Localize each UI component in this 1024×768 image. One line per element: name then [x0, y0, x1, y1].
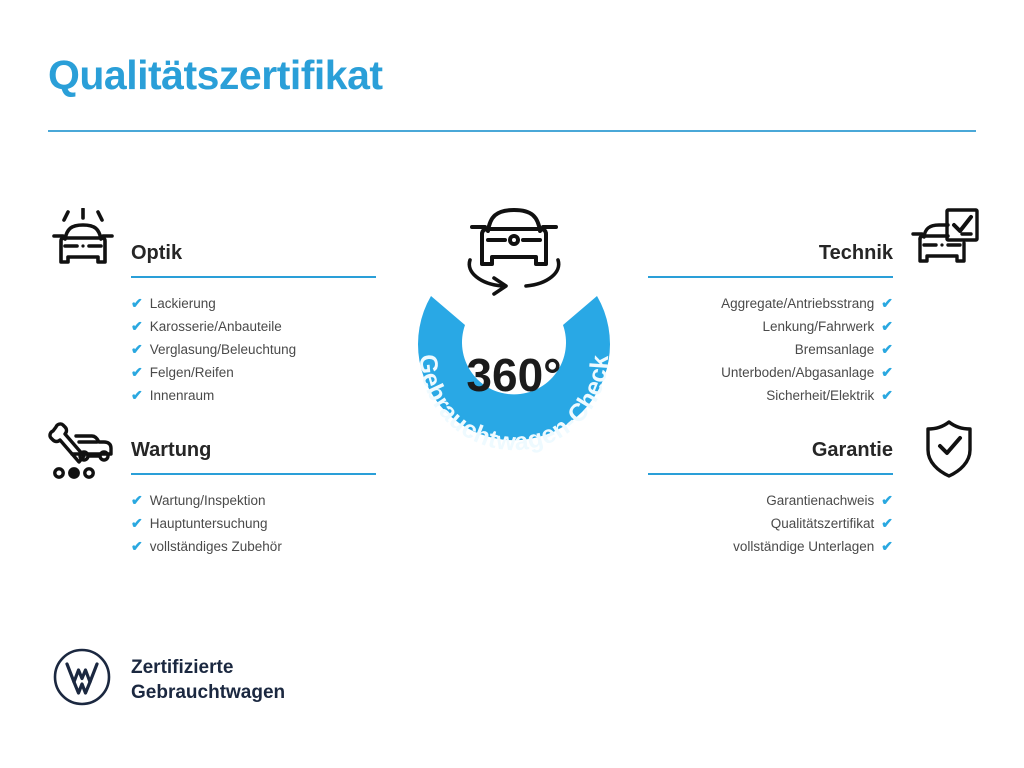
section-optik: Optik ✔ Lackierung ✔ Karosserie/Anbautei… [131, 240, 376, 407]
list-item: ✔ vollständiges Zubehör [131, 535, 376, 558]
list-item-label: Felgen/Reifen [150, 361, 234, 384]
list-item: ✔ Karosserie/Anbauteile [131, 315, 376, 338]
list-item: Unterboden/Abgasanlage ✔ [648, 361, 893, 384]
shield-check-icon [913, 417, 987, 483]
footer-line-1: Zertifizierte [131, 655, 285, 680]
section-wartung-list: ✔ Wartung/Inspektion ✔ Hauptuntersuchung… [131, 489, 376, 558]
list-item-label: Hauptuntersuchung [150, 512, 268, 535]
list-item-label: Innenraum [150, 384, 215, 407]
list-item-label: Unterboden/Abgasanlage [721, 361, 874, 384]
car-front-rotate-icon [458, 196, 570, 300]
check-icon: ✔ [131, 338, 143, 361]
list-item-label: vollständiges Zubehör [150, 535, 282, 558]
check-icon: ✔ [131, 315, 143, 338]
list-item-label: Qualitätszertifikat [771, 512, 875, 535]
section-garantie-header: Garantie [648, 437, 893, 477]
section-wartung: Wartung ✔ Wartung/Inspektion ✔ Hauptunte… [131, 437, 376, 558]
list-item: Bremsanlage ✔ [648, 338, 893, 361]
check-icon: ✔ [131, 292, 143, 315]
list-item: ✔ Wartung/Inspektion [131, 489, 376, 512]
list-item: Qualitätszertifikat ✔ [648, 512, 893, 535]
section-garantie: Garantie Garantienachweis ✔ Qualitätszer… [648, 437, 893, 558]
list-item: vollständige Unterlagen ✔ [648, 535, 893, 558]
list-item: ✔ Hauptuntersuchung [131, 512, 376, 535]
check-icon: ✔ [131, 512, 143, 535]
section-optik-underline [131, 276, 376, 278]
check-icon: ✔ [881, 315, 893, 338]
check-icon: ✔ [131, 384, 143, 407]
section-optik-title: Optik [131, 240, 376, 266]
list-item-label: Lackierung [150, 292, 216, 315]
footer-line-2: Gebrauchtwagen [131, 680, 285, 705]
list-item-label: Wartung/Inspektion [150, 489, 266, 512]
list-item: ✔ Innenraum [131, 384, 376, 407]
check-icon: ✔ [131, 535, 143, 558]
section-wartung-header: Wartung [131, 437, 376, 477]
section-wartung-underline [131, 473, 376, 475]
section-technik-header: Technik [648, 240, 893, 280]
section-wartung-title: Wartung [131, 437, 376, 463]
list-item-label: Lenkung/Fahrwerk [762, 315, 874, 338]
header-divider [48, 130, 976, 132]
certificate-page: Qualitätszertifikat Optik [0, 0, 1024, 768]
section-garantie-underline [648, 473, 893, 475]
list-item-label: Sicherheit/Elektrik [766, 384, 874, 407]
check-icon: ✔ [881, 489, 893, 512]
section-optik-list: ✔ Lackierung ✔ Karosserie/Anbauteile ✔ V… [131, 292, 376, 407]
check-icon: ✔ [881, 292, 893, 315]
check-icon: ✔ [131, 361, 143, 384]
check-icon: ✔ [131, 489, 143, 512]
section-garantie-title: Garantie [648, 437, 893, 463]
wrench-car-service-icon [46, 418, 120, 484]
list-item: Aggregate/Antriebsstrang ✔ [648, 292, 893, 315]
section-technik-underline [648, 276, 893, 278]
list-item-label: Verglasung/Beleuchtung [150, 338, 296, 361]
volkswagen-logo [53, 648, 111, 706]
list-item-label: Bremsanlage [795, 338, 875, 361]
section-garantie-list: Garantienachweis ✔ Qualitätszertifikat ✔… [648, 489, 893, 558]
page-title: Qualitätszertifikat [48, 52, 383, 99]
check-icon: ✔ [881, 384, 893, 407]
section-technik: Technik Aggregate/Antriebsstrang ✔ Lenku… [648, 240, 893, 407]
check-icon: ✔ [881, 535, 893, 558]
list-item-label: Karosserie/Anbauteile [150, 315, 282, 338]
list-item: Sicherheit/Elektrik ✔ [648, 384, 893, 407]
section-optik-header: Optik [131, 240, 376, 280]
list-item: ✔ Felgen/Reifen [131, 361, 376, 384]
list-item-label: Garantienachweis [766, 489, 874, 512]
list-item: Lenkung/Fahrwerk ✔ [648, 315, 893, 338]
check-icon: ✔ [881, 361, 893, 384]
badge-center-label: 360° [378, 348, 650, 402]
car-front-shine-icon [46, 208, 120, 274]
list-item: ✔ Lackierung [131, 292, 376, 315]
footer-text: Zertifizierte Gebrauchtwagen [131, 655, 285, 705]
check-icon: ✔ [881, 338, 893, 361]
check-icon: ✔ [881, 512, 893, 535]
car-front-checkbox-icon [908, 206, 982, 272]
list-item-label: vollständige Unterlagen [733, 535, 874, 558]
list-item: Garantienachweis ✔ [648, 489, 893, 512]
list-item-label: Aggregate/Antriebsstrang [721, 292, 874, 315]
list-item: ✔ Verglasung/Beleuchtung [131, 338, 376, 361]
section-technik-list: Aggregate/Antriebsstrang ✔ Lenkung/Fahrw… [648, 292, 893, 407]
section-technik-title: Technik [648, 240, 893, 266]
